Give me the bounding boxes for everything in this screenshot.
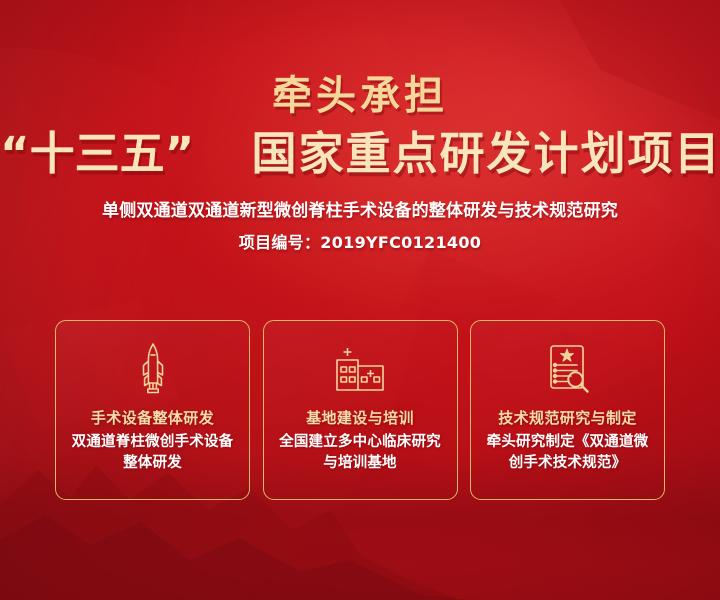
- card-title: 基地建设与培训: [306, 408, 414, 428]
- poster-header: 牵头承担 “十三五” 国家重点研发计划项目 单侧双通道双通道新型微创脊柱手术设备…: [0, 72, 720, 254]
- rocket-icon: [136, 342, 170, 396]
- page-title-program-name: 国家重点研发计划项目: [252, 127, 720, 180]
- page-title-line1: 牵头承担: [0, 72, 720, 120]
- project-number: 项目编号：2019YFC0121400: [0, 232, 720, 254]
- hospital-icon: [334, 342, 386, 396]
- page-subtitle: 单侧双通道双通道新型微创脊柱手术设备的整体研发与技术规范研究: [0, 199, 720, 223]
- page-title-quoted-term: “十三五”: [0, 127, 194, 180]
- document-magnifier-icon: [544, 342, 592, 396]
- highlight-card-equipment-rnd[interactable]: 手术设备整体研发 双通道脊柱微创手术设备整体研发: [55, 320, 250, 500]
- card-body: 牵头研究制定《双通道微创手术技术规范》: [471, 432, 664, 474]
- page-title-line2: “十三五” 国家重点研发计划项目: [0, 127, 720, 181]
- highlight-card-base-training[interactable]: 基地建设与培训 全国建立多中心临床研究与培训基地: [263, 320, 458, 500]
- highlight-card-tech-standard[interactable]: 技术规范研究与制定 牵头研究制定《双通道微创手术技术规范》: [470, 320, 665, 500]
- card-title: 手术设备整体研发: [91, 408, 214, 428]
- poster-canvas: 牵头承担 “十三五” 国家重点研发计划项目 单侧双通道双通道新型微创脊柱手术设备…: [0, 0, 720, 600]
- highlight-card-list: 手术设备整体研发 双通道脊柱微创手术设备整体研发: [55, 320, 665, 500]
- card-body: 双通道脊柱微创手术设备整体研发: [56, 432, 249, 474]
- card-title: 技术规范研究与制定: [498, 408, 637, 428]
- card-body: 全国建立多中心临床研究与培训基地: [264, 432, 457, 474]
